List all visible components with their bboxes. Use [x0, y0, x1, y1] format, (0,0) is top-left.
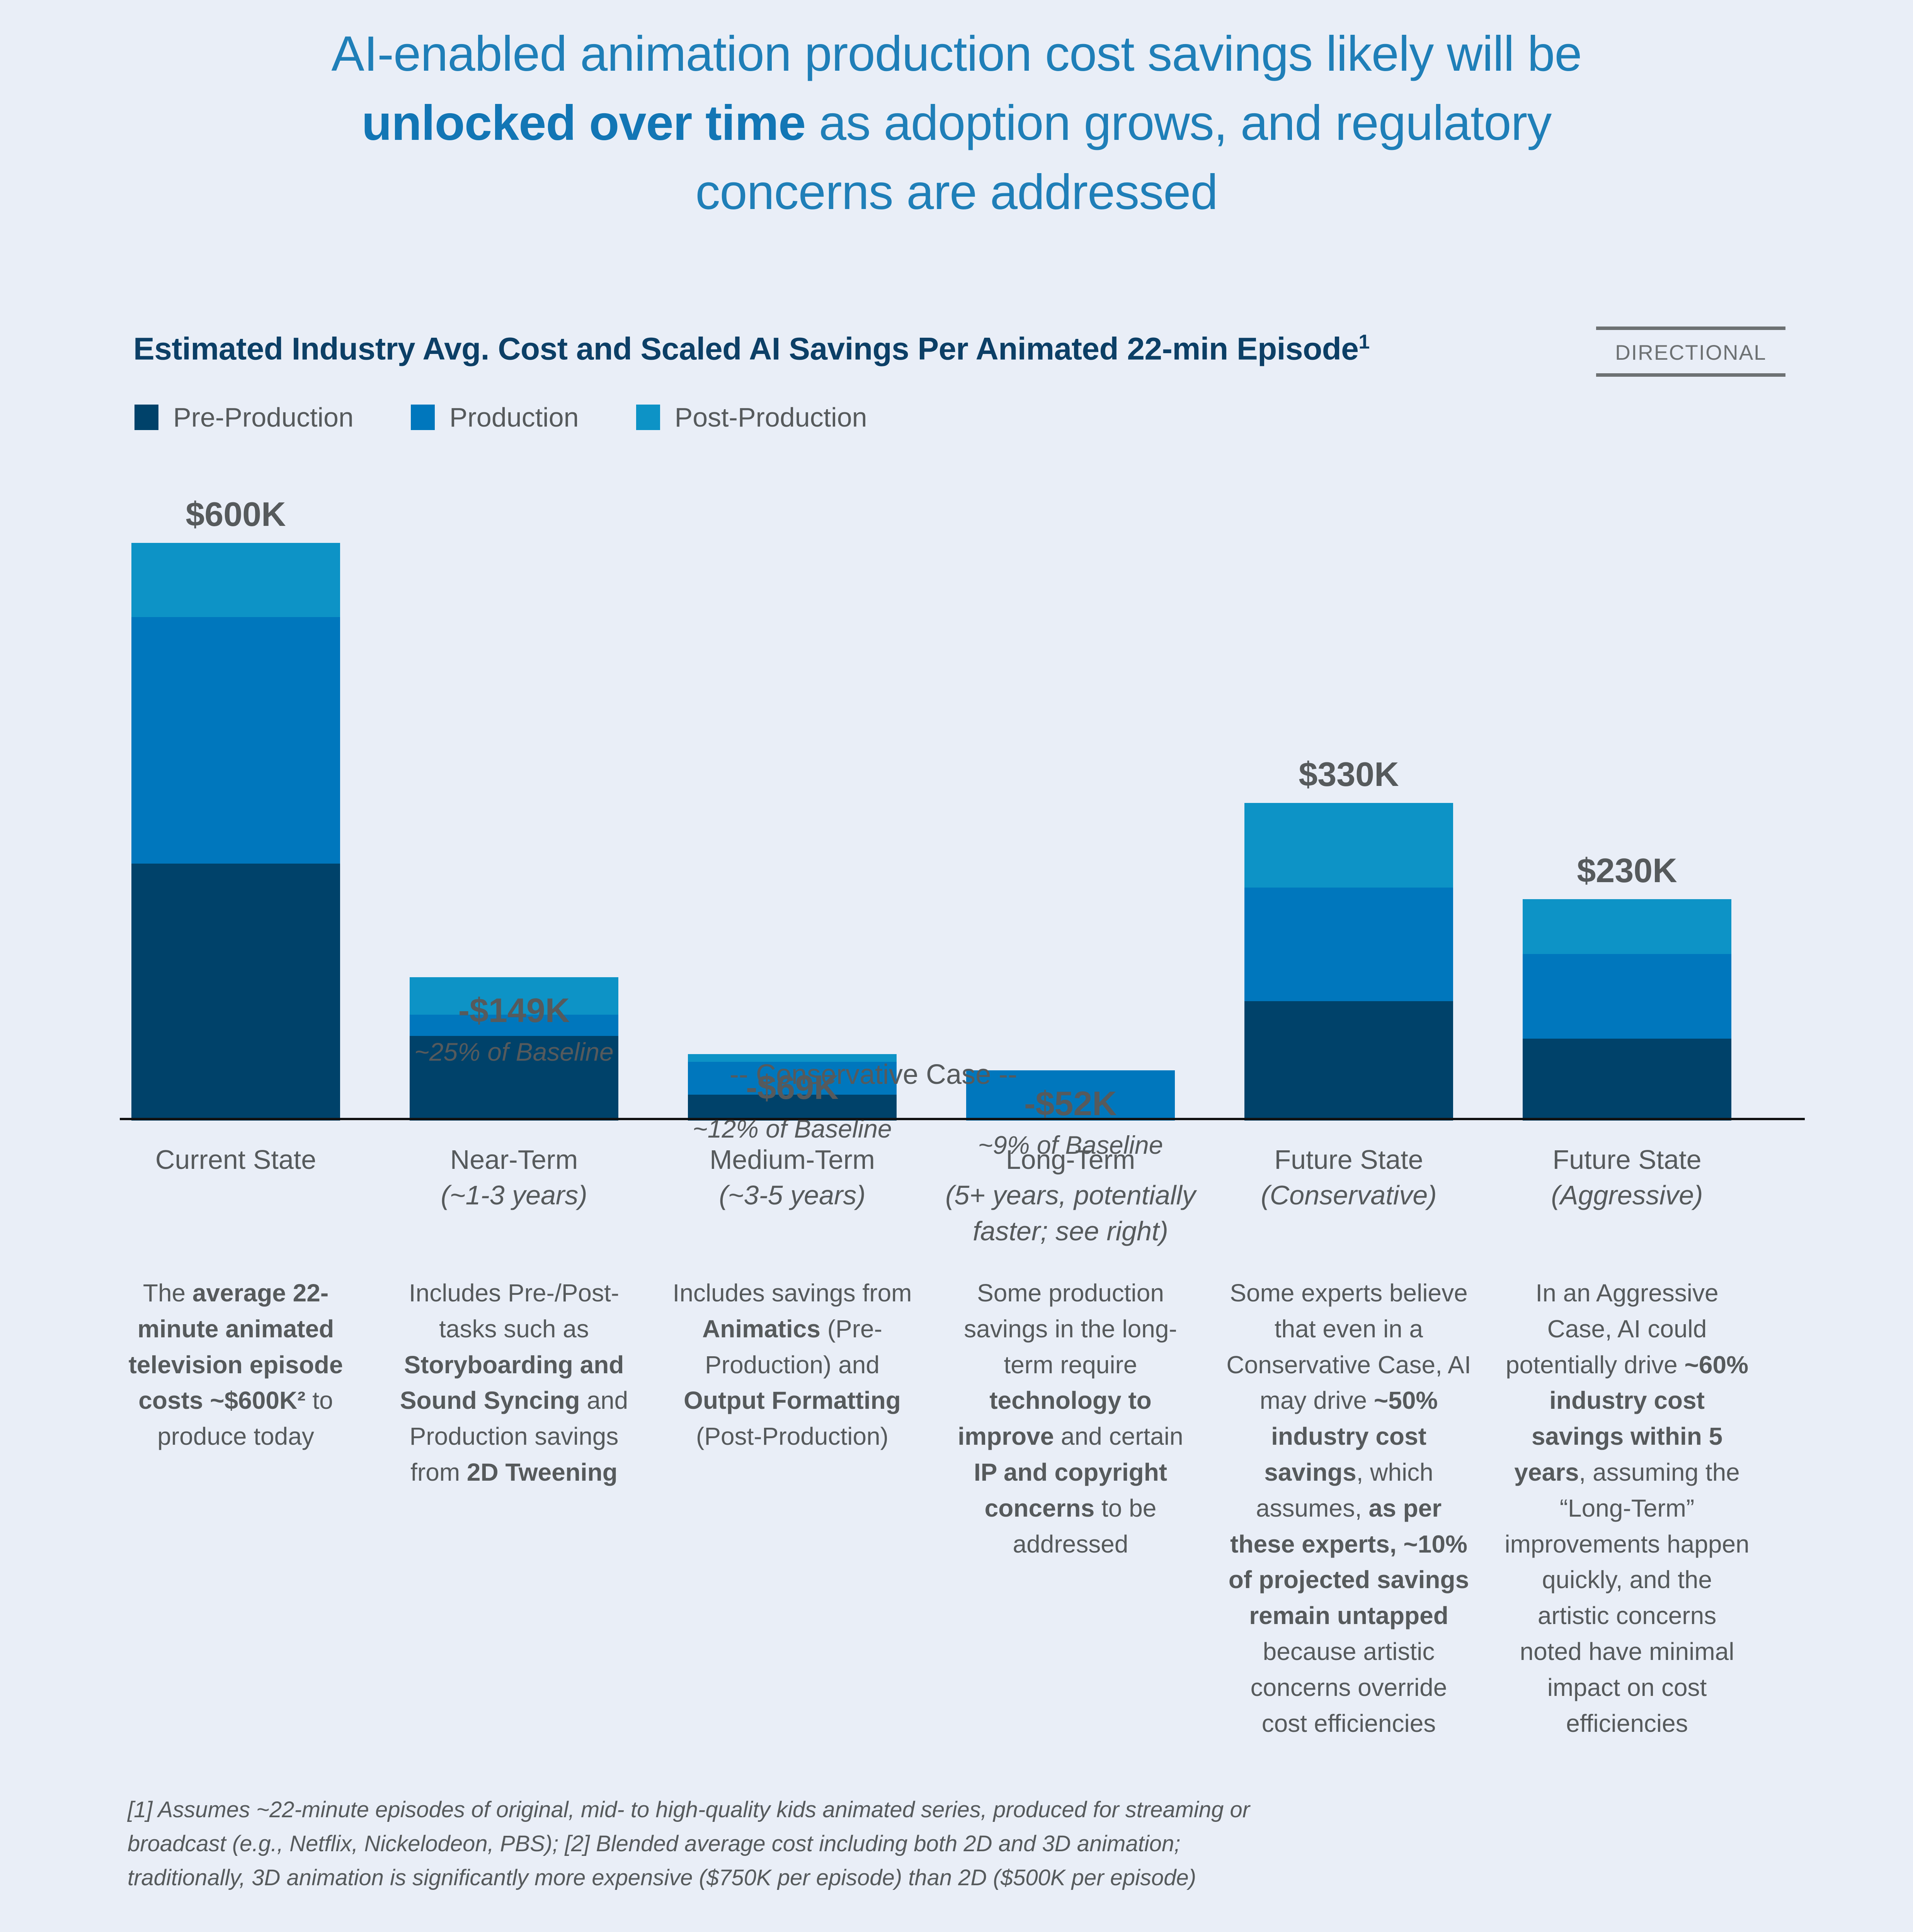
footnote-line-3: traditionally, 3D animation is significa… [128, 1861, 1789, 1895]
legend-item-pre-production[interactable]: Pre-Production [134, 402, 354, 433]
title-line-3: concerns are addressed [0, 158, 1913, 227]
description-emphasis: Output Formatting [684, 1386, 901, 1414]
stacked-bar[interactable] [1523, 899, 1731, 1121]
bar-value-label-5: $330K [1175, 755, 1523, 794]
directional-badge: DIRECTIONAL [1596, 327, 1785, 377]
bar-column-5 [1244, 479, 1453, 1121]
chart-title-text: Estimated Industry Avg. Cost and Scaled … [133, 331, 1358, 366]
footnote-line-1: [1] Assumes ~22-minute episodes of origi… [128, 1793, 1789, 1827]
description-column-2: Includes Pre-/Post-tasks such as Storybo… [390, 1275, 638, 1490]
chart-title-footnote-marker: 1 [1358, 331, 1369, 353]
badge-rule-bottom [1596, 373, 1785, 377]
legend-item-production[interactable]: Production [411, 402, 579, 433]
description-emphasis: 2D Tweening [467, 1458, 618, 1486]
title-emphasis: unlocked over time [362, 95, 806, 151]
x-axis-line [120, 1118, 1805, 1120]
bar-column-6 [1523, 479, 1731, 1121]
badge-label: DIRECTIONAL [1596, 330, 1785, 373]
category-label-sub: (Aggressive) [1484, 1177, 1770, 1213]
category-label-1: Current State [93, 1142, 379, 1177]
chart-legend: Pre-Production Production Post-Productio… [134, 402, 924, 433]
description-column-1: The average 22-minute animated televisio… [112, 1275, 359, 1454]
bar-segment-production[interactable] [1523, 954, 1731, 1039]
description-text: Includes savings from [673, 1279, 912, 1307]
bar-segment-pre-production[interactable] [131, 864, 340, 1121]
page-title: AI-enabled animation production cost sav… [0, 19, 1913, 227]
category-label-6: Future State(Aggressive) [1484, 1142, 1770, 1213]
description-text: Includes Pre-/Post-tasks such as [409, 1279, 619, 1343]
category-label-sub: (~1-3 years) [371, 1177, 657, 1213]
category-label-3: Medium-Term(~3-5 years) [649, 1142, 935, 1213]
description-text: Some production savings in the long-term… [964, 1279, 1177, 1379]
description-text: The [143, 1279, 192, 1307]
conservative-case-divider-note: -- Conservative Case -- [603, 1059, 1144, 1090]
bar-column-4 [966, 479, 1175, 1121]
description-text: (Post-Production) [696, 1422, 888, 1450]
x-axis-category-labels: Current StateNear-Term(~1-3 years)Medium… [120, 1142, 1805, 1289]
legend-label-production: Production [449, 402, 579, 433]
category-label-5: Future State(Conservative) [1206, 1142, 1492, 1213]
bar-segment-post-production[interactable] [131, 543, 340, 617]
category-label-main: Near-Term [450, 1145, 578, 1175]
legend-item-post-production[interactable]: Post-Production [636, 402, 867, 433]
description-column-4: Some production savings in the long-term… [947, 1275, 1194, 1562]
legend-label-post-production: Post-Production [675, 402, 867, 433]
category-label-main: Current State [155, 1145, 316, 1175]
category-label-main: Future State [1552, 1145, 1701, 1175]
category-label-main: Long-Term [1006, 1145, 1135, 1175]
legend-swatch-post-production [636, 405, 660, 430]
bar-value-label-6: $230K [1453, 851, 1801, 890]
legend-label-pre-production: Pre-Production [173, 402, 354, 433]
footnotes: [1] Assumes ~22-minute episodes of origi… [128, 1793, 1789, 1895]
category-label-4: Long-Term(5+ years, potentially faster; … [928, 1142, 1213, 1249]
bar-value-label-2: -$149K [340, 991, 688, 1030]
title-line-1: AI-enabled animation production cost sav… [0, 19, 1913, 88]
category-label-main: Future State [1274, 1145, 1423, 1175]
title-line-2: unlocked over time as adoption grows, an… [0, 88, 1913, 158]
stacked-bar[interactable] [1244, 803, 1453, 1121]
bar-segment-production[interactable] [131, 617, 340, 864]
description-column-5: Some experts believe that even in a Cons… [1225, 1275, 1472, 1741]
description-text: , assuming the “Long-Term” improvements … [1505, 1458, 1749, 1737]
category-label-main: Medium-Term [710, 1145, 875, 1175]
category-label-sub: (~3-5 years) [649, 1177, 935, 1213]
bar-segment-post-production[interactable] [1523, 899, 1731, 954]
description-column-3: Includes savings from Animatics (Pre-Pro… [669, 1275, 916, 1454]
chart-title: Estimated Industry Avg. Cost and Scaled … [133, 330, 1370, 367]
legend-swatch-production [411, 405, 435, 430]
bar-segment-pre-production[interactable] [1244, 1001, 1453, 1121]
description-text: because artistic concerns override cost … [1251, 1638, 1447, 1737]
description-column-6: In an Aggressive Case, AI could potentia… [1503, 1275, 1751, 1741]
category-label-2: Near-Term(~1-3 years) [371, 1142, 657, 1213]
category-label-sub: (Conservative) [1206, 1177, 1492, 1213]
bar-segment-pre-production[interactable] [1523, 1039, 1731, 1121]
bar-column-1 [131, 479, 340, 1121]
footnote-line-2: broadcast (e.g., Netflix, Nickelodeon, P… [128, 1827, 1789, 1861]
bar-chart-plot-area: $600K-$149K~25% of Baseline-$69K~12% of … [120, 479, 1805, 1121]
bar-segment-production[interactable] [1244, 888, 1453, 1001]
stacked-bar[interactable] [131, 543, 340, 1121]
description-text: and certain [1054, 1422, 1183, 1450]
title-line-2-rest: as adoption grows, and regulatory [805, 95, 1551, 151]
bar-column-3 [688, 479, 897, 1121]
bar-segment-post-production[interactable] [1244, 803, 1453, 888]
description-emphasis: Animatics [702, 1315, 820, 1343]
bar-value-label-1: $600K [62, 495, 410, 534]
badge-rule-top [1596, 327, 1785, 330]
category-label-sub: (5+ years, potentially faster; see right… [928, 1177, 1213, 1249]
legend-swatch-pre-production [134, 405, 158, 430]
